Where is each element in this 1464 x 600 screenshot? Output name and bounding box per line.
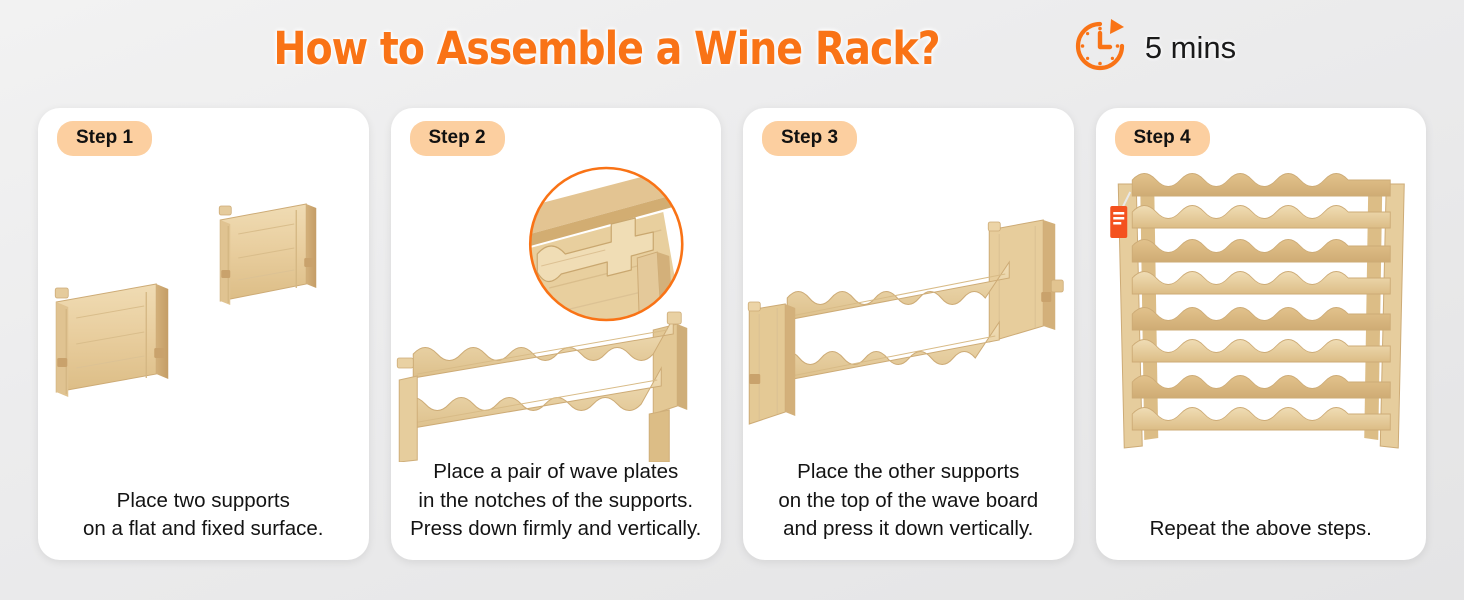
wave-plate-front (777, 322, 999, 382)
step-card-4: Step 4 (1096, 108, 1427, 560)
step-caption-3: Place the other supports on the top of t… (743, 458, 1074, 544)
step-badge-1: Step 1 (57, 121, 152, 156)
caption-line: in the notches of the supports. (391, 487, 722, 516)
caption-line: Place two supports (38, 487, 369, 516)
step-caption-1: Place two supports on a flat and fixed s… (38, 487, 369, 544)
caption-line: Place the other supports (743, 458, 1074, 487)
support-panel-back (219, 204, 316, 305)
rack-tier-2 (1132, 240, 1390, 295)
caption-line: Press down firmly and vertically. (391, 515, 722, 544)
wave-plate-assembly (397, 312, 687, 462)
illustration-two-supports (38, 162, 369, 462)
illustration-four-tier-rack (1096, 162, 1427, 462)
illustration-single-tier-rack (743, 162, 1074, 462)
caption-line: on the top of the wave board (743, 487, 1074, 516)
step-card-3: Step 3 (743, 108, 1074, 560)
header: How to Assemble a Wine Rack? 5 mins (0, 0, 1464, 96)
illustration-wave-plates (391, 162, 722, 462)
rack-tier-3 (1132, 308, 1390, 363)
page-title: How to Assemble a Wine Rack? (273, 22, 939, 75)
caption-line: Place a pair of wave plates (391, 458, 722, 487)
clock-arrow-icon (1069, 15, 1131, 82)
caption-line: on a flat and fixed surface. (38, 515, 369, 544)
rack-tier-4 (1132, 376, 1390, 431)
step-card-1: Step 1 (38, 108, 369, 560)
timer: 5 mins (1069, 15, 1236, 82)
rack-tier-1 (1132, 174, 1390, 229)
step-badge-4: Step 4 (1115, 121, 1210, 156)
step-caption-4: Repeat the above steps. (1096, 515, 1427, 544)
caption-line: Repeat the above steps. (1096, 515, 1427, 544)
step-badge-3: Step 3 (762, 121, 857, 156)
steps-container: Step 1 (38, 108, 1426, 560)
wave-plate-back (787, 262, 1009, 320)
caption-line: and press it down vertically. (743, 515, 1074, 544)
support-panel-front (55, 284, 168, 397)
detail-inset-notch-joint (530, 164, 691, 320)
step-card-2: Step 2 (391, 108, 722, 560)
step-badge-2: Step 2 (410, 121, 505, 156)
step-caption-2: Place a pair of wave plates in the notch… (391, 458, 722, 544)
timer-label: 5 mins (1145, 30, 1236, 66)
support-panel-left (748, 302, 795, 424)
